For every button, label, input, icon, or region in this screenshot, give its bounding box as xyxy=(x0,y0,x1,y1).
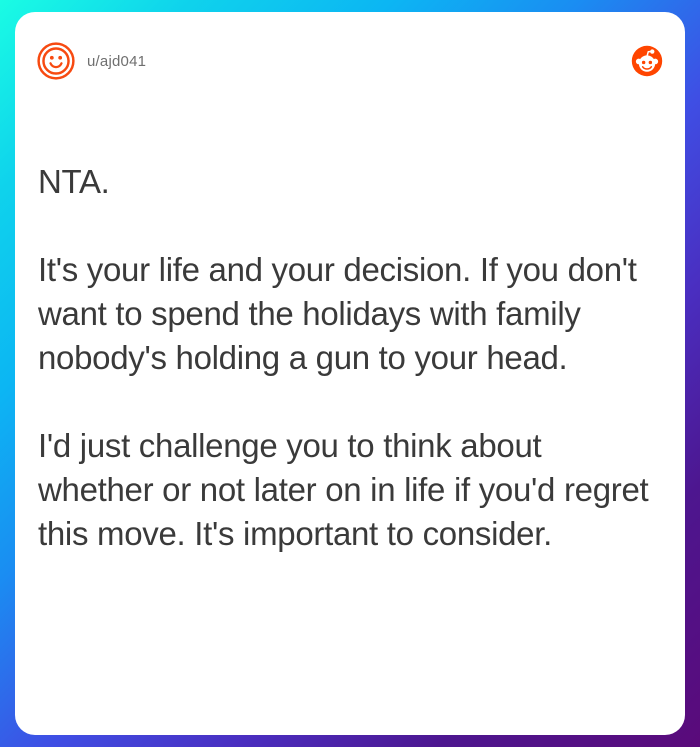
reddit-post-card: u/ajd041 NTA. It's your life and your de… xyxy=(15,12,685,735)
post-header: u/ajd041 xyxy=(37,38,663,84)
screenshot-root: u/ajd041 NTA. It's your life and your de… xyxy=(0,0,700,747)
smiley-face-avatar-icon xyxy=(37,42,75,80)
avatar[interactable] xyxy=(37,42,75,80)
post-paragraph: I'd just challenge you to think about wh… xyxy=(38,424,655,556)
reddit-snoo-logo-icon[interactable] xyxy=(631,45,663,77)
post-paragraph: NTA. xyxy=(38,160,655,204)
post-paragraph: It's your life and your decision. If you… xyxy=(38,248,655,380)
username-label: u/ajd041 xyxy=(87,53,146,70)
post-body-text: NTA. It's your life and your decision. I… xyxy=(38,160,655,556)
